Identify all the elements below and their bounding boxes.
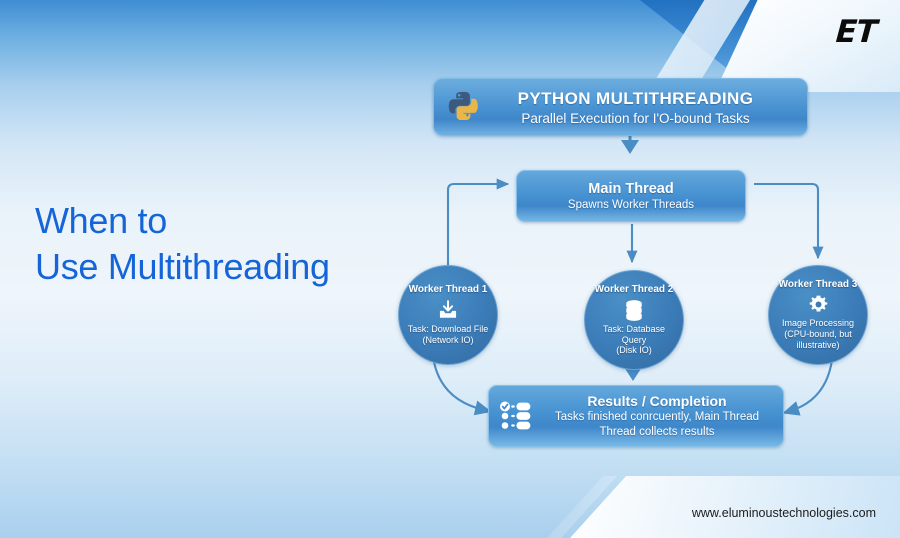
python-logo-icon (448, 90, 478, 125)
slide-canvas: ET When to Use Multithreading (0, 0, 900, 538)
worker-thread-3-node: Worker Thread 3 Image Processing (CPU-bo… (768, 265, 868, 365)
worker-thread-3-task-line-2: (CPU-bound, but (782, 329, 854, 340)
database-icon (624, 299, 644, 321)
page-title: When to Use Multithreading (35, 198, 330, 290)
results-completion-node: Results / Completion Tasks finished conr… (488, 385, 784, 447)
worker-thread-3-task: Image Processing (CPU-bound, but illustr… (774, 318, 862, 351)
diagram-header-subtitle: Parallel Execution for I'O-bound Tasks (478, 111, 793, 126)
worker-thread-1-task: Task: Download File (Network IO) (400, 324, 497, 346)
main-thread-node: Main Thread Spawns Worker Threads (516, 170, 746, 222)
results-description: Tasks finished conrcuently, Main Thread … (539, 410, 775, 439)
worker-thread-3-title: Worker Thread 3 (779, 279, 858, 290)
worker-thread-1-task-line-1: Task: Download File (408, 324, 489, 335)
worker-thread-2-node: Worker Thread 2 Task: (584, 270, 684, 370)
worker-thread-1-task-line-2: (Network IO) (408, 335, 489, 346)
main-thread-subtitle: Spawns Worker Threads (568, 199, 694, 211)
worker-thread-2-task: Task: Database Query (Disk IO) (585, 324, 683, 357)
worker-thread-1-node: Worker Thread 1 Task: Download File (Net… (398, 265, 498, 365)
worker-thread-1-title: Worker Thread 1 (409, 284, 488, 295)
website-url: www.eluminoustechnologies.com (692, 506, 876, 520)
results-description-line-1: Tasks finished conrcuently, Main Thread (539, 410, 775, 424)
worker-thread-2-title: Worker Thread 2 (595, 284, 674, 295)
diagram-header-text: PYTHON MULTITHREADING Parallel Execution… (478, 89, 807, 126)
page-title-line-1: When to (35, 198, 330, 244)
download-icon (437, 299, 459, 321)
results-description-line-2: Thread collects results (539, 425, 775, 439)
multithreading-flow-diagram: PYTHON MULTITHREADING Parallel Execution… (380, 70, 890, 460)
page-title-line-2: Use Multithreading (35, 244, 330, 290)
worker-thread-3-task-line-1: Image Processing (782, 318, 854, 329)
results-title: Results / Completion (539, 393, 775, 409)
results-text-block: Results / Completion Tasks finished conr… (539, 393, 783, 439)
diagram-header-box: PYTHON MULTITHREADING Parallel Execution… (433, 78, 808, 136)
worker-thread-2-task-line-2: (Disk IO) (593, 345, 675, 356)
checklist-icon (499, 401, 533, 431)
main-thread-title: Main Thread (588, 181, 673, 197)
worker-thread-2-task-line-1: Task: Database Query (593, 324, 675, 346)
worker-thread-3-task-line-3: illustrative) (782, 340, 854, 351)
gear-icon (808, 294, 829, 315)
brand-logo: ET (834, 14, 877, 50)
diagram-header-title: PYTHON MULTITHREADING (478, 89, 793, 109)
